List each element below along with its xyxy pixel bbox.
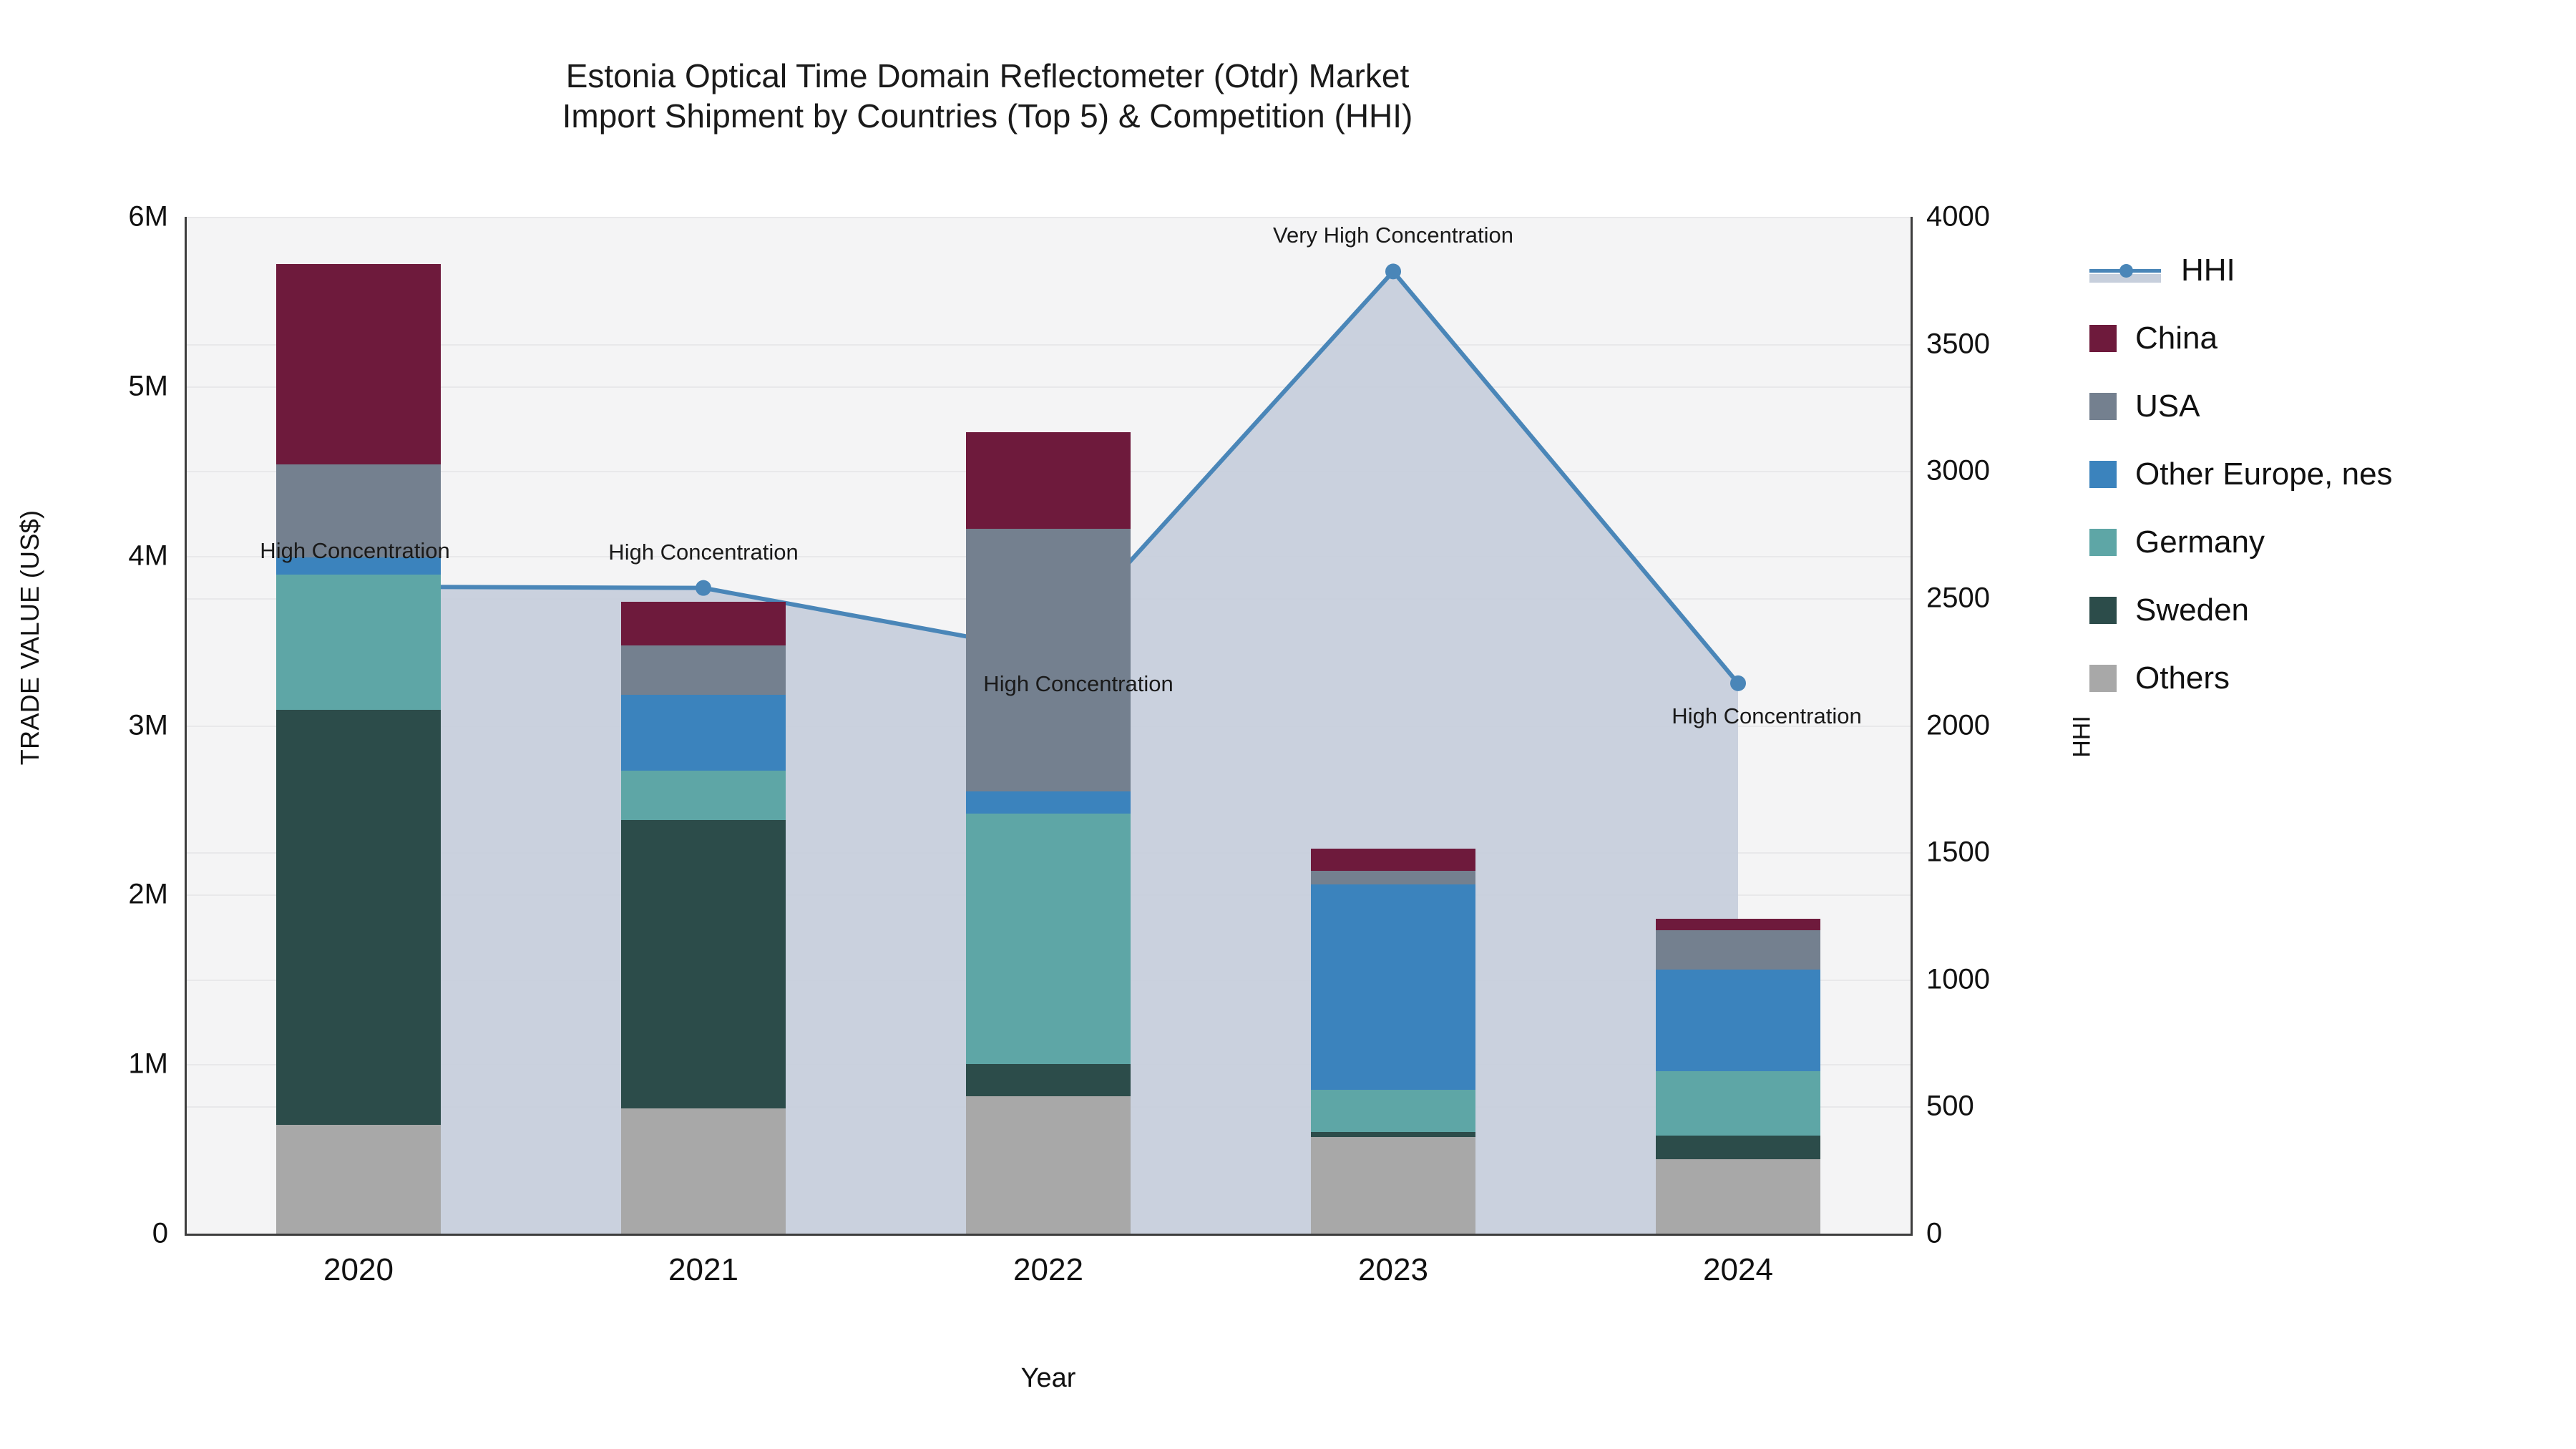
y-tick-label: 6M — [0, 201, 168, 233]
y2-axis-line — [1911, 217, 1913, 1235]
legend-item[interactable]: Other Europe, nes — [2089, 440, 2393, 508]
y2-tick-label: 2500 — [1926, 582, 1990, 614]
legend: HHIChinaUSAOther Europe, nesGermanySwede… — [2089, 236, 2393, 712]
bar-segment[interactable] — [621, 645, 786, 695]
legend-swatch — [2089, 597, 2117, 624]
bar-segment[interactable] — [1656, 970, 1820, 1071]
bar-segment[interactable] — [621, 695, 786, 771]
bar-2020[interactable] — [276, 264, 441, 1234]
x-axis-label: Year — [186, 1363, 1911, 1394]
chart-title-line2: Import Shipment by Countries (Top 5) & C… — [0, 96, 1975, 136]
legend-swatch — [2089, 529, 2117, 556]
bar-segment[interactable] — [1311, 849, 1475, 871]
y-tick-label: 0 — [0, 1218, 168, 1250]
hhi-annotation: Very High Concentration — [1273, 223, 1513, 248]
chart-title: Estonia Optical Time Domain Reflectomete… — [0, 56, 1975, 136]
y-tick-label: 5M — [0, 370, 168, 402]
y-tick-label: 2M — [0, 879, 168, 911]
y-axis-line — [185, 217, 187, 1235]
legend-swatch — [2089, 665, 2117, 692]
chart-root: Estonia Optical Time Domain Reflectomete… — [0, 0, 2576, 1449]
bar-segment[interactable] — [966, 1064, 1131, 1096]
bar-segment[interactable] — [966, 529, 1131, 791]
x-tick-label: 2022 — [1013, 1252, 1083, 1288]
bar-segment[interactable] — [276, 575, 441, 710]
legend-swatch — [2089, 393, 2117, 420]
legend-label: USA — [2135, 389, 2200, 424]
legend-label: Other Europe, nes — [2135, 457, 2393, 492]
bar-2021[interactable] — [621, 602, 786, 1234]
y2-tick-label: 1000 — [1926, 963, 1990, 995]
plot-area — [186, 217, 1911, 1234]
bar-segment[interactable] — [276, 264, 441, 464]
y2-tick-label: 1500 — [1926, 836, 1990, 869]
legend-item[interactable]: Others — [2089, 644, 2393, 712]
bar-segment[interactable] — [276, 710, 441, 1125]
bar-segment[interactable] — [1656, 1136, 1820, 1159]
legend-swatch — [2089, 325, 2117, 352]
y-tick-label: 1M — [0, 1048, 168, 1080]
x-tick-label: 2024 — [1703, 1252, 1773, 1288]
legend-item[interactable]: Sweden — [2089, 576, 2393, 644]
x-tick-label: 2023 — [1358, 1252, 1428, 1288]
y2-tick-label: 4000 — [1926, 201, 1990, 233]
y2-tick-label: 3000 — [1926, 455, 1990, 487]
legend-item[interactable]: USA — [2089, 372, 2393, 440]
bar-2023[interactable] — [1311, 849, 1475, 1234]
hhi-marker[interactable] — [1730, 675, 1746, 691]
chart-title-line1: Estonia Optical Time Domain Reflectomete… — [0, 56, 1975, 96]
bar-segment[interactable] — [1311, 1137, 1475, 1234]
hhi-marker[interactable] — [1385, 263, 1401, 279]
y2-tick-label: 2000 — [1926, 709, 1990, 741]
bar-segment[interactable] — [966, 1096, 1131, 1234]
bar-segment[interactable] — [1656, 1071, 1820, 1136]
bar-segment[interactable] — [1311, 884, 1475, 1090]
hhi-annotation: High Concentration — [608, 540, 798, 565]
bar-segment[interactable] — [621, 602, 786, 646]
legend-item[interactable]: China — [2089, 304, 2393, 372]
legend-item[interactable]: HHI — [2089, 236, 2393, 304]
bar-segment[interactable] — [966, 814, 1131, 1065]
hhi-annotation: High Concentration — [260, 538, 449, 564]
legend-label: Others — [2135, 660, 2230, 696]
hhi-marker[interactable] — [696, 580, 711, 596]
bar-segment[interactable] — [1656, 930, 1820, 969]
y2-tick-label: 3500 — [1926, 328, 1990, 360]
x-axis-line — [185, 1234, 1913, 1236]
legend-item[interactable]: Germany — [2089, 508, 2393, 576]
legend-label: China — [2135, 321, 2218, 356]
legend-label: Sweden — [2135, 592, 2249, 628]
bar-segment[interactable] — [1311, 1090, 1475, 1132]
hhi-annotation: High Concentration — [983, 671, 1173, 697]
legend-line-marker — [2089, 257, 2161, 284]
y-axis-label: TRADE VALUE (US$) — [15, 487, 45, 788]
bar-segment[interactable] — [621, 1108, 786, 1234]
bar-segment[interactable] — [1311, 1132, 1475, 1137]
legend-label: Germany — [2135, 525, 2265, 560]
y2-tick-label: 0 — [1926, 1218, 1942, 1250]
legend-swatch — [2089, 461, 2117, 488]
y2-tick-label: 500 — [1926, 1091, 1974, 1123]
bar-segment[interactable] — [621, 771, 786, 820]
x-tick-label: 2020 — [323, 1252, 394, 1288]
bar-segment[interactable] — [966, 791, 1131, 814]
bar-2024[interactable] — [1656, 919, 1820, 1234]
bar-2022[interactable] — [966, 432, 1131, 1234]
hhi-annotation: High Concentration — [1672, 703, 1861, 729]
bar-segment[interactable] — [276, 1125, 441, 1234]
bar-segment[interactable] — [966, 432, 1131, 529]
bar-segment[interactable] — [1311, 871, 1475, 884]
bar-segment[interactable] — [1656, 919, 1820, 931]
legend-label: HHI — [2181, 253, 2235, 288]
x-tick-label: 2021 — [668, 1252, 738, 1288]
bar-segment[interactable] — [1656, 1159, 1820, 1234]
bar-segment[interactable] — [621, 820, 786, 1108]
